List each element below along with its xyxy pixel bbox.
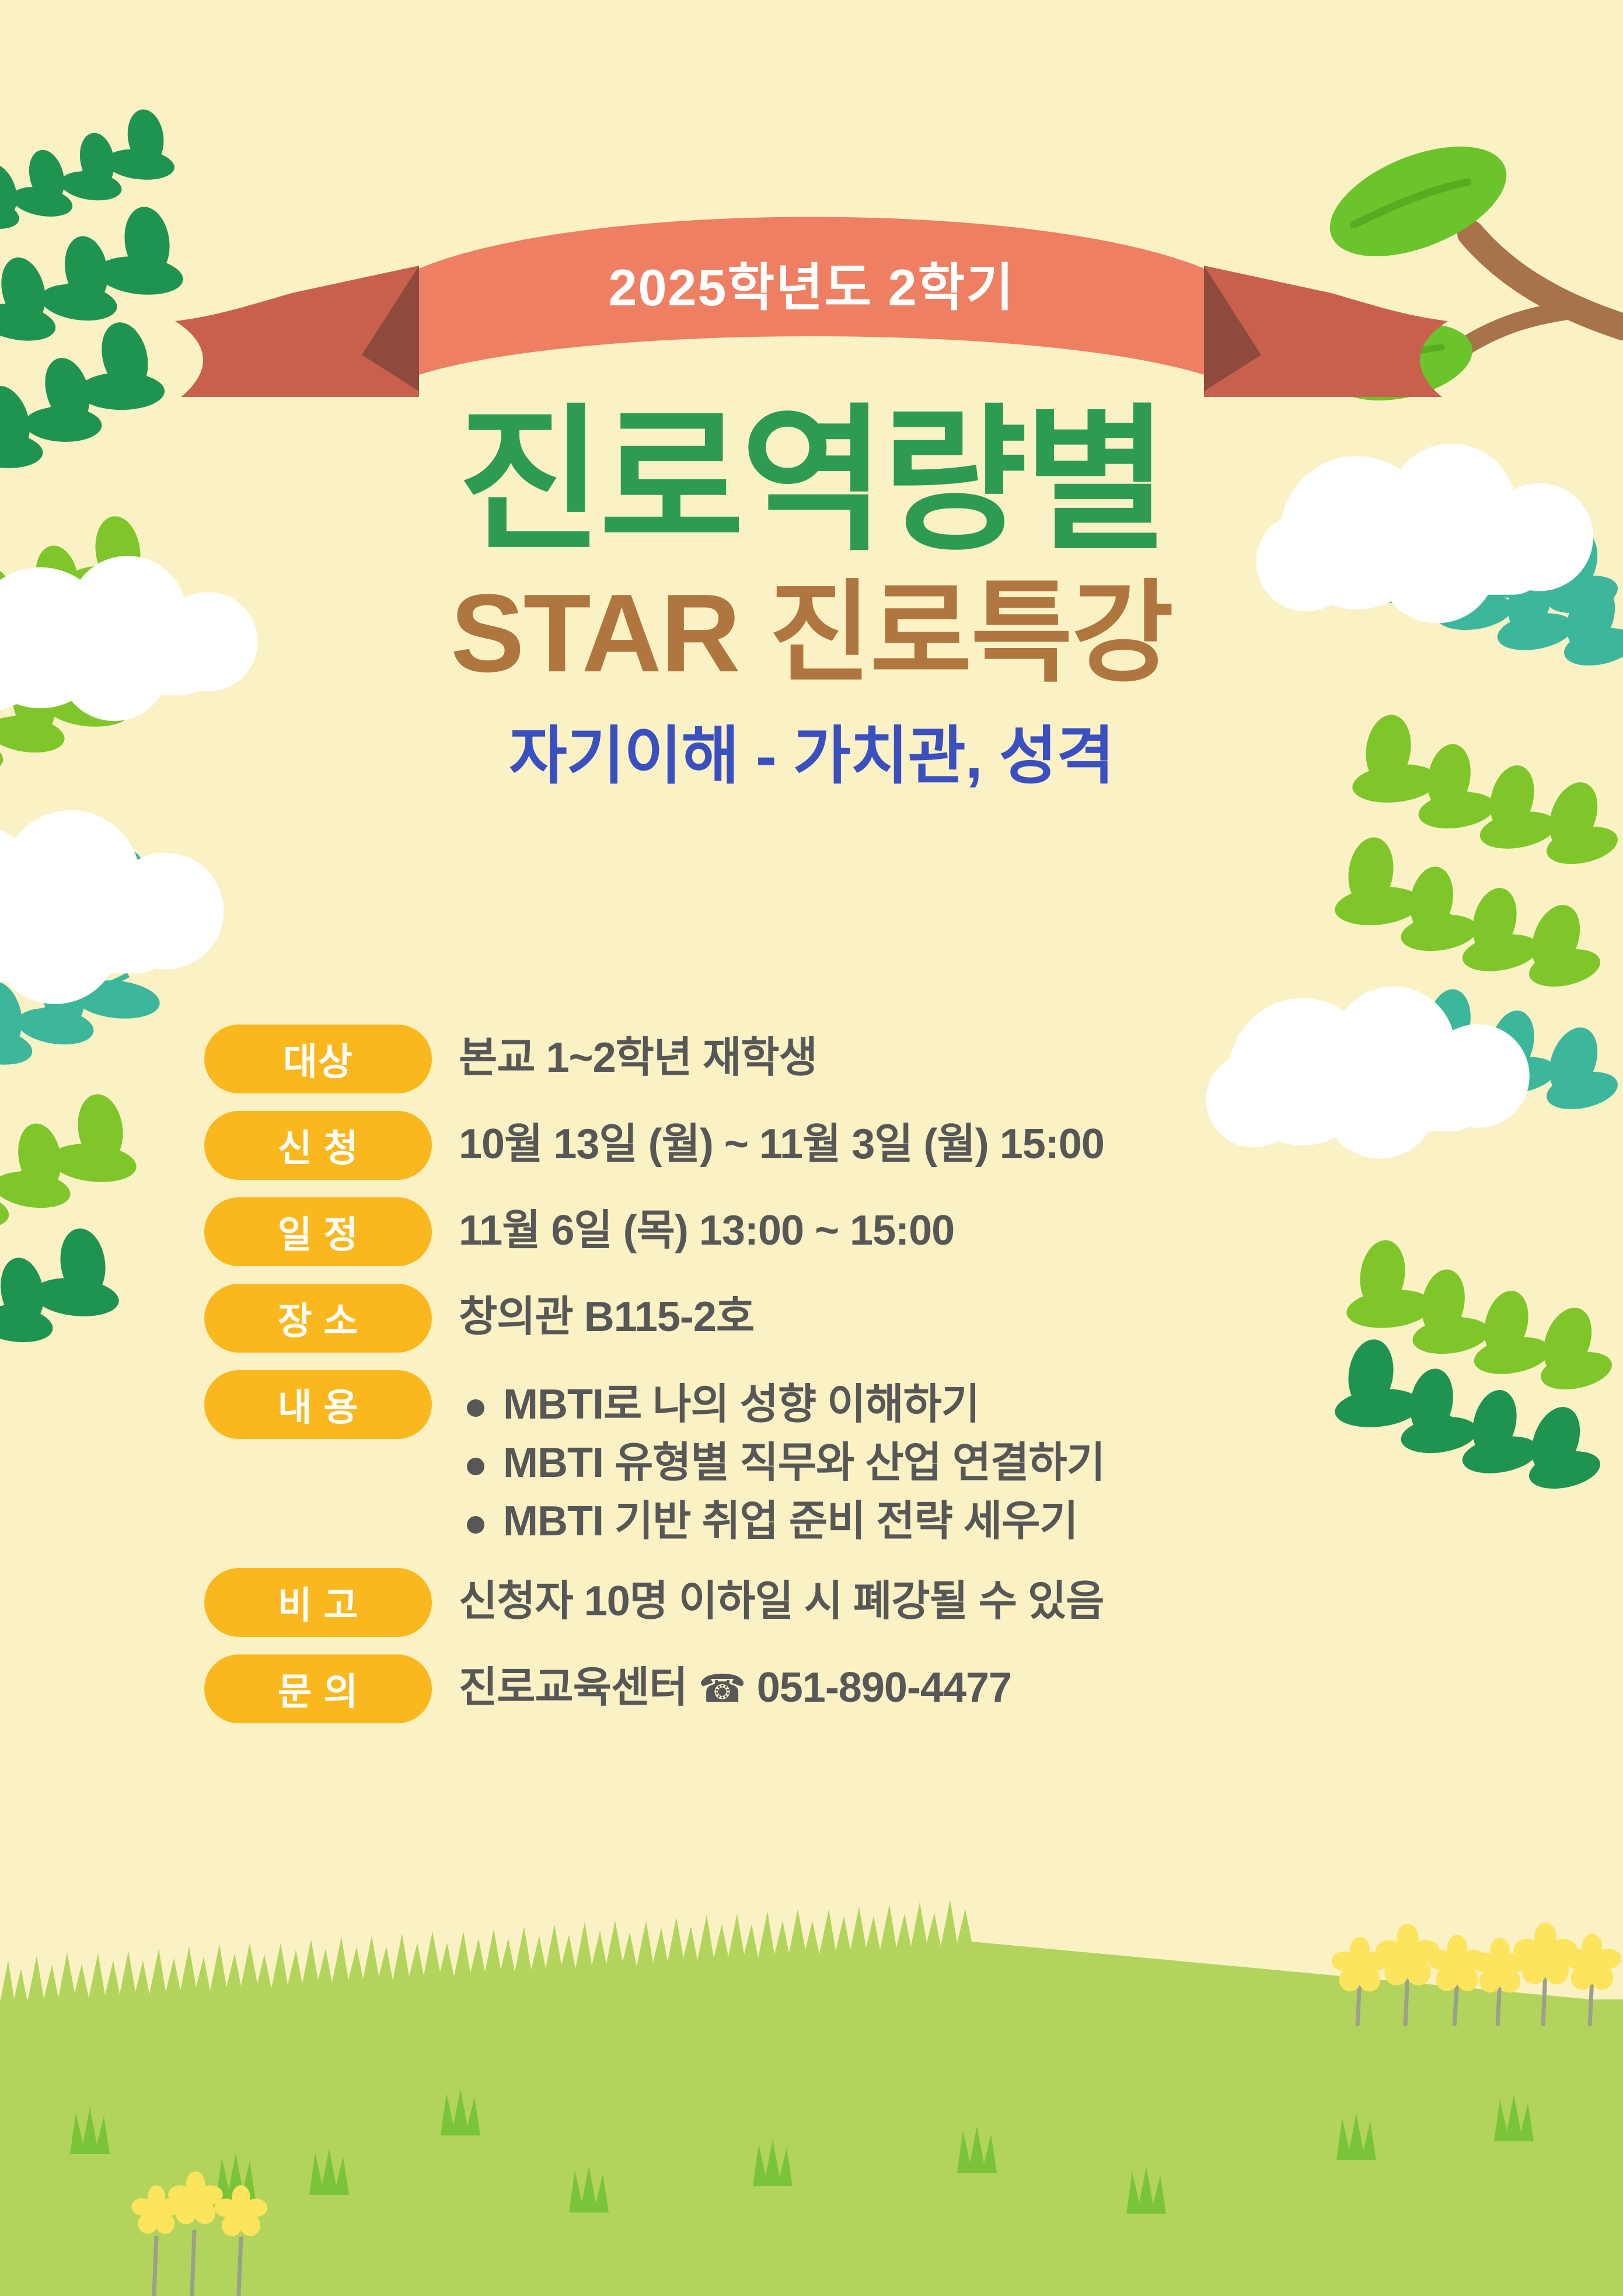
- label-pill-contact: 문 의: [204, 1654, 432, 1723]
- title-block: 진로역량별 STAR 진로특강 자기이해 - 가치관, 성격: [0, 403, 1623, 790]
- telephone-icon: ☎: [698, 1666, 745, 1711]
- label-pill-schedule: 일 정: [204, 1197, 432, 1266]
- ribbon-label: 2025학년도 2학기: [0, 216, 1623, 350]
- value-application: 10월 13일 (월) ~ 11월 3일 (월) 15:00: [459, 1111, 1488, 1169]
- info-row-contact: 문 의 진로교육센터 ☎ 051-890-4477: [204, 1654, 1488, 1723]
- value-content: MBTI로 나의 성향 이해하기 MBTI 유형별 직무와 산업 연결하기 MB…: [459, 1370, 1488, 1554]
- cloud-left-mid: [0, 810, 224, 1004]
- leaf-sprig-left-4: [0, 1091, 138, 1384]
- value-target: 본교 1~2학년 재학생: [459, 1025, 1488, 1082]
- contact-office-name: 진로교육센터: [459, 1664, 687, 1711]
- content-bullet-list: MBTI로 나의 성향 이해하기 MBTI 유형별 직무와 산업 연결하기 MB…: [459, 1379, 1488, 1547]
- label-pill-application: 신 청: [204, 1111, 432, 1180]
- contact-phone-number: 051-890-4477: [757, 1664, 1011, 1711]
- list-item: MBTI로 나의 성향 이해하기: [459, 1379, 1488, 1431]
- info-list: 대상 본교 1~2학년 재학생 신 청 10월 13일 (월) ~ 11월 3일…: [204, 1025, 1488, 1741]
- leaf-sprig-left-top: [0, 107, 176, 234]
- info-row-content: 내 용 MBTI로 나의 성향 이해하기 MBTI 유형별 직무와 산업 연결하…: [204, 1370, 1488, 1554]
- page-title-line1: 진로역량별: [0, 403, 1623, 560]
- label-pill-notes: 비 고: [204, 1568, 432, 1637]
- value-notes: 신청자 10명 이하일 시 폐강될 수 있음: [459, 1568, 1488, 1626]
- grass-field: [0, 1900, 1623, 2296]
- list-item: MBTI 기반 취업 준비 전략 세우기: [459, 1496, 1488, 1548]
- info-row-schedule: 일 정 11월 6일 (목) 13:00 ~ 15:00: [204, 1197, 1488, 1266]
- grass-flowers-left: [131, 2171, 267, 2296]
- ribbon-banner: 2025학년도 2학기: [0, 216, 1623, 397]
- label-pill-target: 대상: [204, 1025, 432, 1093]
- label-pill-location: 장 소: [204, 1284, 432, 1353]
- list-item: MBTI 유형별 직무와 산업 연결하기: [459, 1438, 1488, 1489]
- poster-canvas: 2025학년도 2학기 진로역량별 STAR 진로특강 자기이해 - 가치관, …: [0, 0, 1623, 2296]
- page-subtitle: 자기이해 - 가치관, 성격: [0, 722, 1623, 791]
- page-title-line2: STAR 진로특강: [0, 576, 1623, 692]
- grass-flowers-right: [1332, 1922, 1621, 2026]
- info-row-notes: 비 고 신청자 10명 이하일 시 폐강될 수 있음: [204, 1568, 1488, 1637]
- info-row-target: 대상 본교 1~2학년 재학생: [204, 1025, 1488, 1093]
- label-pill-content: 내 용: [204, 1370, 432, 1439]
- value-contact: 진로교육센터 ☎ 051-890-4477: [459, 1654, 1488, 1712]
- value-schedule: 11월 6일 (목) 13:00 ~ 15:00: [459, 1197, 1488, 1255]
- leaf-sprig-left-3: [0, 817, 162, 1086]
- grass-tufts: [70, 2089, 1534, 2214]
- info-row-application: 신 청 10월 13일 (월) ~ 11월 3일 (월) 15:00: [204, 1111, 1488, 1180]
- info-row-location: 장 소 창의관 B115-2호: [204, 1284, 1488, 1353]
- value-location: 창의관 B115-2호: [459, 1284, 1488, 1342]
